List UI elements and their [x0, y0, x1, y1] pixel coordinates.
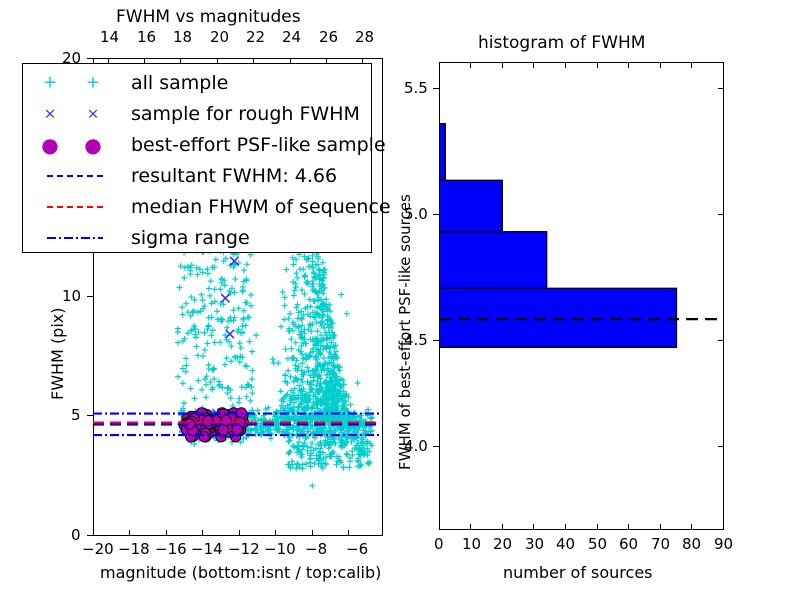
- x-tick-label: 40: [556, 535, 575, 553]
- top-tick-label: 16: [137, 28, 156, 46]
- x-tick-label: 30: [525, 535, 544, 553]
- x-tick-label: 70: [651, 535, 670, 553]
- top-tick-label: 28: [355, 28, 374, 46]
- top-tick-label: 18: [173, 28, 192, 46]
- top-tick-label: 14: [100, 28, 119, 46]
- histogram-y-axis-title: FWHM of best-effort PSF-like sources: [396, 194, 414, 470]
- histogram-plot-title: histogram of FWHM: [478, 33, 645, 53]
- legend-marker-blue-dashed-line-icon: [31, 160, 131, 191]
- top-tick-label: 20: [210, 28, 229, 46]
- x-tick-label: −20: [82, 540, 114, 558]
- legend-label: sample for rough FWHM: [131, 103, 360, 125]
- scatter-plot-title: FWHM vs magnitudes: [116, 7, 301, 27]
- legend-marker-cross-icon: × ×: [31, 98, 131, 129]
- legend-entry-rough-fwhm[interactable]: × × sample for rough FWHM: [31, 98, 363, 129]
- scatter-x-axis-title: magnitude (bottom:isnt / top:calib): [100, 563, 381, 582]
- x-tick-label: −18: [118, 540, 150, 558]
- legend-label: all sample: [131, 72, 228, 94]
- x-tick-label: −8: [305, 540, 327, 558]
- histogram-bars-layer: [439, 62, 724, 530]
- x-tick-label: 0: [434, 535, 444, 553]
- legend-entry-all-sample[interactable]: + + all sample: [31, 67, 363, 98]
- y-tick-label: 10: [62, 287, 81, 305]
- legend-label: sigma range: [131, 227, 250, 249]
- histogram-x-axis-title: number of sources: [503, 563, 653, 582]
- x-tick-label: 20: [493, 535, 512, 553]
- top-tick-label: 24: [282, 28, 301, 46]
- legend-label: median FHWM of sequence: [131, 196, 391, 218]
- y-tick-label: 0: [71, 526, 81, 544]
- x-tick-label: −16: [155, 540, 187, 558]
- x-tick-label: −6: [346, 540, 368, 558]
- legend-entry-median-fwhm[interactable]: median FHWM of sequence: [31, 191, 363, 222]
- legend-marker-plus-icon: + +: [31, 67, 131, 98]
- legend-label: resultant FWHM: 4.66: [131, 165, 337, 187]
- top-tick-label: 22: [246, 28, 265, 46]
- x-tick-label: 60: [619, 535, 638, 553]
- y-tick-label: 5: [71, 406, 81, 424]
- scatter-y-axis-title: FWHM (pix): [48, 308, 67, 401]
- legend-entry-sigma-range[interactable]: sigma range: [31, 222, 363, 253]
- plot-legend: + + all sample × × sample for rough FWHM…: [22, 63, 372, 253]
- legend-entry-psf-like[interactable]: ● ● best-effort PSF-like sample: [31, 129, 363, 160]
- figure-canvas: FWHM vs magnitudes 14 16 18 20 22 24 26 …: [0, 0, 800, 600]
- x-tick-label: 50: [588, 535, 607, 553]
- x-tick-label: 80: [682, 535, 701, 553]
- legend-marker-red-dashed-line-icon: [31, 191, 131, 222]
- x-tick-label: 10: [462, 535, 481, 553]
- legend-label: best-effort PSF-like sample: [131, 134, 386, 156]
- legend-entry-resultant-fwhm[interactable]: resultant FWHM: 4.66: [31, 160, 363, 191]
- y-tick-label: 5.5: [404, 79, 428, 97]
- x-tick-label: −14: [191, 540, 223, 558]
- legend-marker-blue-dashdot-line-icon: [31, 222, 131, 253]
- x-tick-label: −12: [228, 540, 260, 558]
- legend-marker-circle-icon: ● ●: [31, 129, 131, 160]
- top-tick-label: 26: [319, 28, 338, 46]
- x-tick-label: −10: [264, 540, 296, 558]
- x-tick-label: 90: [714, 535, 733, 553]
